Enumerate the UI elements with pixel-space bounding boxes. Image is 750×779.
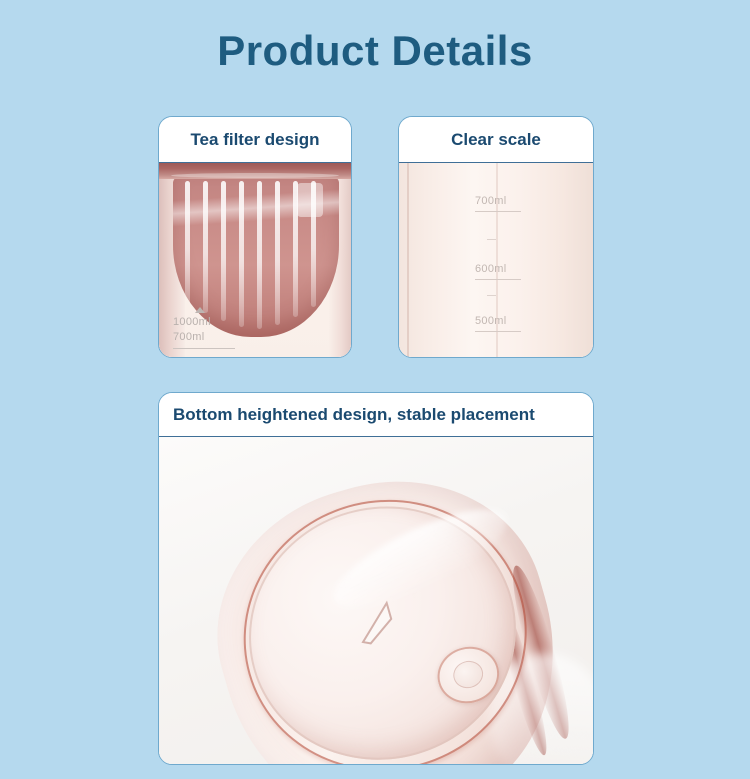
card-clear-scale-title: Clear scale	[451, 130, 541, 150]
card-bottom-design-header: Bottom heightened design, stable placeme…	[159, 393, 593, 437]
volume-mark-rule	[173, 348, 235, 349]
card-clear-scale-header: Clear scale	[399, 117, 593, 163]
volume-scale-600: 600ml	[475, 263, 521, 280]
tea-filter-illustration: 1000ml 700ml	[159, 163, 351, 357]
card-clear-scale[interactable]: Clear scale 700ml 600ml 500ml	[398, 116, 594, 358]
volume-mark-label: 700ml	[173, 330, 235, 345]
clear-scale-illustration: 700ml 600ml 500ml	[399, 163, 593, 357]
volume-mark-label: 500ml	[475, 315, 506, 327]
volume-mark-rule	[475, 211, 521, 212]
card-tea-filter-image: 1000ml 700ml	[159, 163, 351, 357]
volume-mark-rule	[475, 331, 521, 332]
volume-mark-label: 600ml	[475, 263, 506, 275]
volume-mark-label: 1000ml	[173, 315, 235, 330]
triangle-up-icon	[195, 307, 205, 313]
pitcher-base-illustration	[159, 437, 593, 764]
base-highlight	[322, 491, 518, 626]
card-clear-scale-image: 700ml 600ml 500ml	[399, 163, 593, 357]
card-bottom-design-image	[159, 437, 593, 764]
volume-mark-label: 700ml	[475, 195, 506, 207]
card-bottom-design-title: Bottom heightened design, stable placeme…	[173, 405, 535, 425]
volume-minor-tick	[487, 239, 496, 240]
card-tea-filter-header: Tea filter design	[159, 117, 351, 163]
card-tea-filter-title: Tea filter design	[190, 130, 319, 150]
pitcher-body	[159, 437, 593, 764]
volume-scale-700: 700ml	[475, 195, 521, 212]
volume-minor-tick	[487, 295, 496, 296]
card-bottom-design[interactable]: Bottom heightened design, stable placeme…	[158, 392, 594, 765]
volume-mark-rule	[475, 279, 521, 280]
card-tea-filter[interactable]: Tea filter design 1000ml 700m	[158, 116, 352, 358]
volume-scale-group: 1000ml 700ml	[173, 307, 235, 349]
glass-rim	[159, 163, 351, 179]
volume-scale-500: 500ml	[475, 315, 521, 332]
glass-edge-left	[407, 163, 409, 357]
page-title: Product Details	[0, 24, 750, 78]
base-center-nub-inner	[450, 657, 486, 691]
